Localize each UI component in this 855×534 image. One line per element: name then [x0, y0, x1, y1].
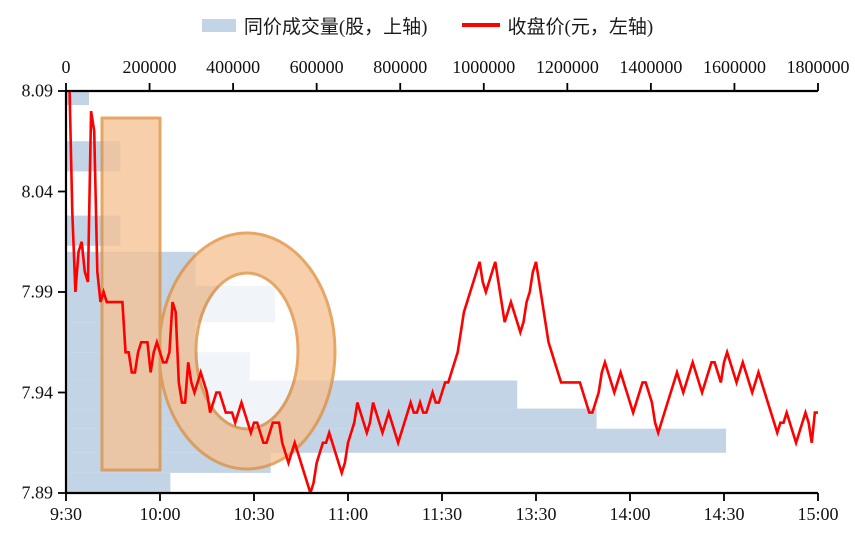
- top-axis-tick-label: 1000000: [452, 57, 515, 78]
- bottom-axis-tick-label: 14:30: [703, 504, 744, 525]
- left-axis-tick-label: 8.09: [22, 81, 54, 102]
- top-axis-tick-label: 1200000: [536, 57, 599, 78]
- left-axis-tick-label: 7.89: [22, 483, 54, 504]
- bottom-axis-tick-label: 14:00: [609, 504, 650, 525]
- watermark-layer: [102, 118, 336, 470]
- volume-at-price-chart: 同价成交量(股，上轴) 收盘价(元，左轴) 020000040000060000…: [0, 0, 855, 534]
- bottom-axis-tick-label: 10:00: [139, 504, 180, 525]
- watermark-stem-overlay: [102, 118, 160, 470]
- top-axis-tick-label: 0: [62, 57, 71, 78]
- bottom-axis-tick-label: 15:00: [797, 504, 838, 525]
- line-swatch-icon: [462, 23, 500, 27]
- top-axis-tick-label: 400000: [206, 57, 260, 78]
- left-axis-tick-label: 7.94: [22, 382, 54, 403]
- legend-item-price: 收盘价(元，左轴): [462, 12, 654, 39]
- bottom-axis-tick-label: 13:30: [515, 504, 556, 525]
- top-axis-tick-label: 1600000: [703, 57, 766, 78]
- plot-canvas: [0, 0, 855, 534]
- legend-label-volume: 同价成交量(股，上轴): [244, 12, 428, 39]
- legend-item-volume: 同价成交量(股，上轴): [202, 12, 428, 39]
- volume-bars-layer: [66, 81, 726, 493]
- bar-swatch-icon: [202, 19, 236, 32]
- watermark-letter-b: [102, 118, 336, 470]
- legend-label-price: 收盘价(元，左轴): [508, 12, 654, 39]
- bottom-axis-tick-label: 11:30: [422, 504, 462, 525]
- bottom-axis-tick-label: 11:00: [328, 504, 368, 525]
- top-axis-tick-label: 800000: [373, 57, 427, 78]
- bottom-axis-tick-label: 9:30: [50, 504, 82, 525]
- top-axis-tick-label: 1400000: [619, 57, 682, 78]
- left-axis-tick-label: 8.04: [22, 181, 54, 202]
- top-axis-tick-label: 1800000: [787, 57, 850, 78]
- chart-legend: 同价成交量(股，上轴) 收盘价(元，左轴): [0, 8, 855, 42]
- volume-bar: [66, 473, 170, 493]
- top-axis-tick-label: 600000: [290, 57, 344, 78]
- top-axis-tick-label: 200000: [123, 57, 177, 78]
- left-axis-tick-label: 7.99: [22, 282, 54, 303]
- bottom-axis-tick-label: 10:30: [233, 504, 274, 525]
